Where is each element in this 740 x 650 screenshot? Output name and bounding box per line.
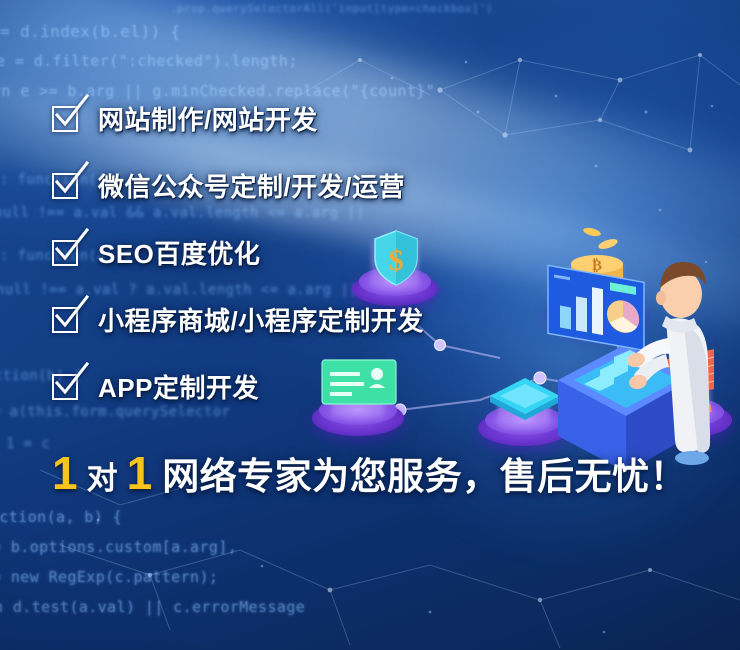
checklist-label: APP定制开发 — [98, 375, 259, 401]
checkbox-checked-icon[interactable] — [52, 240, 81, 269]
service-checklist: 网站制作/网站开发 微信公众号定制/开发/运营 SEO百度优化 小程序商城/小程… — [52, 98, 424, 433]
checklist-item[interactable]: 小程序商城/小程序定制开发 — [52, 299, 424, 343]
checkbox-checked-icon[interactable] — [52, 106, 81, 135]
checklist-item[interactable]: 网站制作/网站开发 — [52, 98, 424, 142]
checklist-item[interactable]: SEO百度优化 — [52, 232, 424, 276]
checklist-label: SEO百度优化 — [98, 241, 260, 267]
checklist-item[interactable]: APP定制开发 — [52, 366, 424, 410]
promo-banner: .prop.querySelectorAll('input[type=check… — [0, 0, 740, 650]
checkbox-checked-icon[interactable] — [52, 173, 81, 202]
checklist-label: 网站制作/网站开发 — [98, 107, 318, 133]
headline-number-second: 1 — [127, 450, 153, 496]
checklist-item[interactable]: 微信公众号定制/开发/运营 — [52, 165, 424, 209]
checkbox-checked-icon[interactable] — [52, 374, 81, 403]
headline: 1 对 1 网络专家为您服务，售后无忧！ — [52, 450, 687, 496]
headline-tail-text: 网络专家为您服务，售后无忧！ — [162, 458, 687, 495]
headline-number-first: 1 — [52, 450, 78, 496]
checklist-label: 小程序商城/小程序定制开发 — [98, 308, 424, 334]
checkbox-checked-icon[interactable] — [52, 307, 81, 336]
checklist-label: 微信公众号定制/开发/运营 — [98, 174, 405, 200]
headline-connector: 对 — [87, 463, 118, 494]
